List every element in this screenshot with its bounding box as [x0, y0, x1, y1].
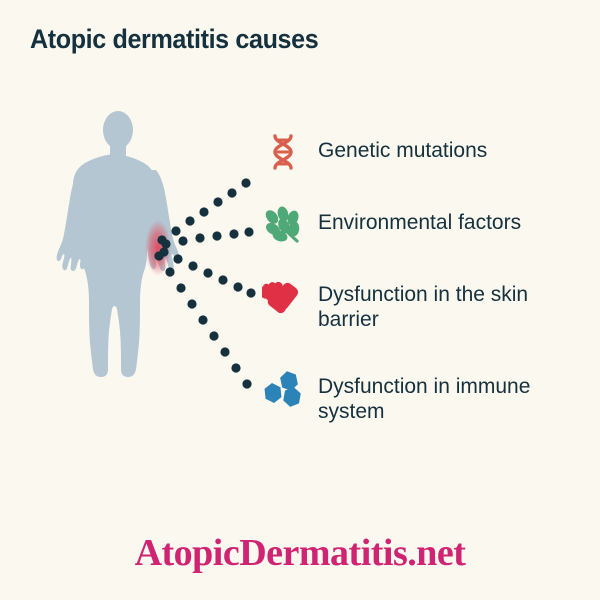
cause-item-environmental-factors: Environmental factors: [262, 204, 521, 246]
leaf-branch-icon: [262, 204, 304, 246]
cause-label: Environmental factors: [318, 204, 521, 235]
cause-item-immune-system: Dysfunction in immune system: [262, 368, 568, 424]
human-body-silhouette: [48, 108, 188, 458]
brand-footer[interactable]: AtopicDermatitis.net: [0, 531, 600, 575]
hand-icon: [262, 276, 304, 318]
figure-head: [103, 111, 133, 149]
inflamed-skin-patch: [145, 220, 171, 276]
cause-label: Genetic mutations: [318, 132, 487, 163]
cause-label: Dysfunction in immune system: [318, 368, 568, 424]
cause-item-genetic-mutations: Genetic mutations: [262, 132, 487, 174]
cause-label: Dysfunction in the skin barrier: [318, 276, 568, 332]
hexagon-cells-icon: [262, 368, 304, 410]
dna-helix-icon: [262, 132, 304, 174]
cause-item-skin-barrier: Dysfunction in the skin barrier: [262, 276, 568, 332]
infographic-canvas: Atopic dermatitis causes: [0, 0, 600, 600]
page-title: Atopic dermatitis causes: [30, 24, 318, 55]
